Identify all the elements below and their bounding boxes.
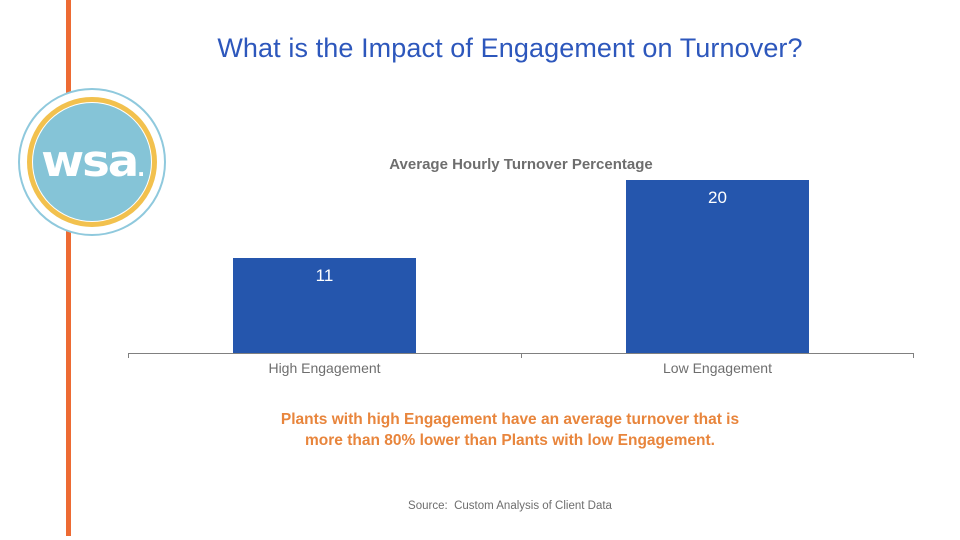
category-label-low-engagement: Low Engagement [521, 360, 914, 376]
callout-line-1: Plants with high Engagement have an aver… [150, 409, 870, 430]
callout-text: Plants with high Engagement have an aver… [150, 409, 870, 451]
slide-canvas: wsa. What is the Impact of Engagement on… [0, 0, 960, 540]
chart-title: Average Hourly Turnover Percentage [128, 156, 914, 173]
source-note: Source: Custom Analysis of Client Data [150, 500, 870, 512]
bar-high-engagement[interactable]: 11 [233, 258, 416, 353]
bar-value-label: 11 [233, 266, 416, 286]
callout-line-2: more than 80% lower than Plants with low… [150, 430, 870, 451]
axis-tick-end [913, 353, 914, 358]
bar-low-engagement[interactable]: 20 [626, 180, 809, 353]
category-label-high-engagement: High Engagement [128, 360, 521, 376]
axis-tick-middle [521, 353, 522, 358]
category-axis-labels: High Engagement Low Engagement [128, 360, 914, 376]
bar-value-label: 20 [626, 188, 809, 208]
bar-chart: Average Hourly Turnover Percentage 11 20… [0, 0, 960, 540]
axis-tick-start [128, 353, 129, 358]
chart-plot-area: 11 20 [128, 180, 914, 353]
